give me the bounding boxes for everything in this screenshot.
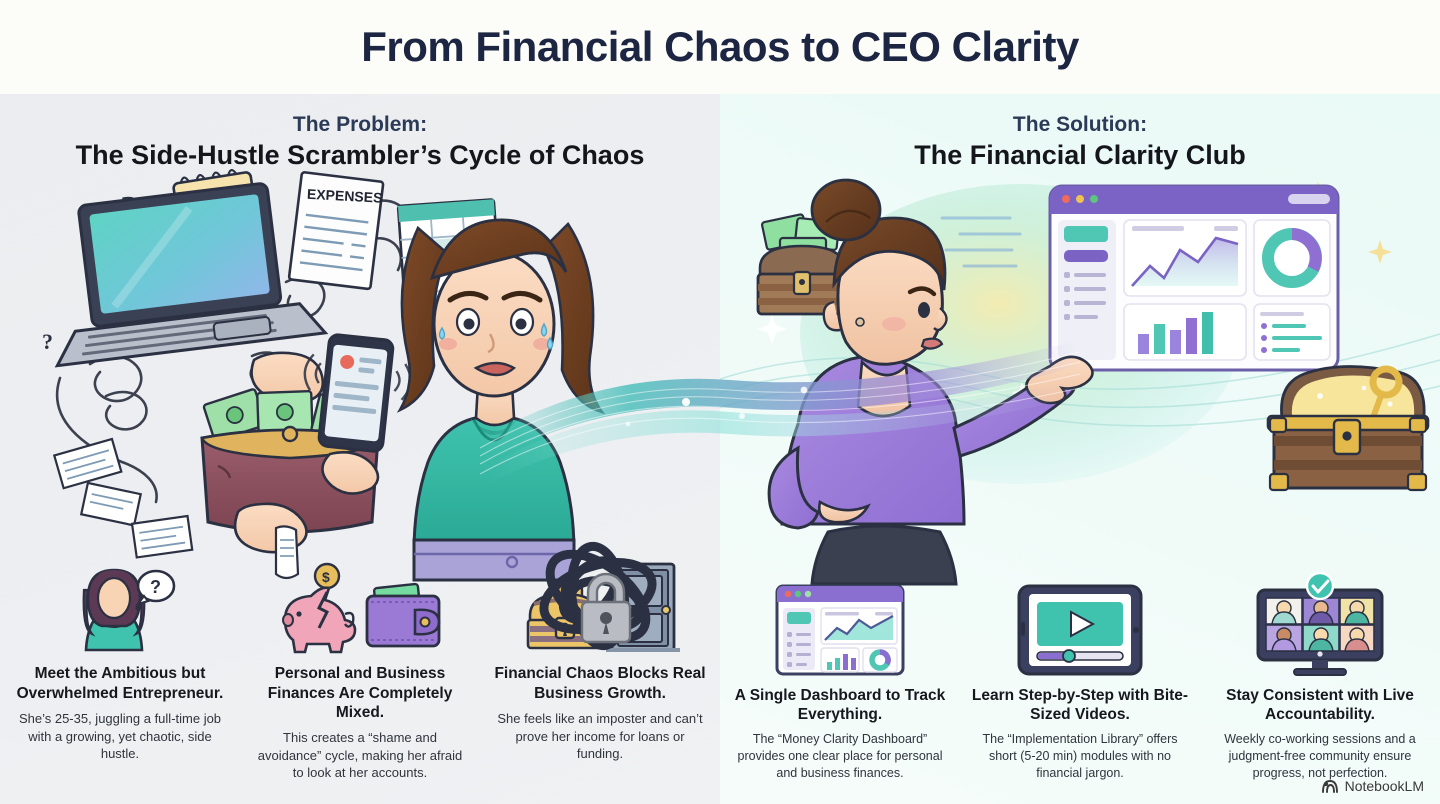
solution-panel-heading: The Solution: The Financial Clarity Club (720, 112, 1440, 173)
dashboard-screen (1050, 186, 1338, 370)
problem-card-2: $ (251, 554, 469, 782)
notebooklm-watermark: NotebookLM (1322, 778, 1424, 794)
problem-card-2-title: Personal and Business Finances Are Compl… (251, 664, 469, 722)
problem-panel: The Problem: The Side-Hustle Scrambler’s… (0, 94, 720, 804)
confident-ceo-illustration (720, 164, 1440, 554)
problem-eyebrow: The Problem: (0, 112, 720, 137)
svg-text:$: $ (322, 569, 330, 585)
solution-card-3-body: Weekly co-working sessions and a judgmen… (1211, 731, 1429, 782)
broken-piggy-bank-and-wallet-icon: $ (275, 554, 445, 654)
solution-eyebrow: The Solution: (720, 112, 1440, 137)
dashboard-icon (775, 576, 905, 676)
solution-panel: The Solution: The Financial Clarity Club (720, 94, 1440, 804)
confused-person-icon: ? (64, 554, 176, 654)
video-call-grid-icon (1250, 576, 1390, 676)
svg-text:?: ? (150, 577, 161, 597)
hair-bun (812, 180, 880, 240)
check-badge-icon (1307, 573, 1333, 599)
solution-card-2-body: The “Implementation Library” offers shor… (971, 731, 1189, 782)
window-controls (1062, 195, 1098, 203)
problem-card-1-title: Meet the Ambitious but Overwhelmed Entre… (11, 664, 229, 703)
problem-card-3-body: She feels like an imposter and can’t pro… (491, 710, 709, 763)
solution-title: The Financial Clarity Club (720, 139, 1440, 173)
solution-card-1-title: A Single Dashboard to Track Everything. (731, 686, 949, 725)
problem-panel-heading: The Problem: The Side-Hustle Scrambler’s… (0, 112, 720, 173)
problem-card-1: ? Meet the Ambitious but Overwhelmed Ent… (11, 554, 229, 762)
overwhelmed-entrepreneur-illustration: ? ? ? (0, 164, 720, 554)
stressed-woman-figure (400, 220, 602, 580)
infographic-canvas: From Financial Chaos to CEO Clarity The … (0, 0, 1440, 804)
solution-card-2-title: Learn Step-by-Step with Bite-Sized Video… (971, 686, 1189, 725)
open-treasure-chest-with-key-icon (1268, 365, 1428, 490)
page-title: From Financial Chaos to CEO Clarity (361, 23, 1079, 71)
laptop-icon (38, 178, 325, 366)
solution-cards: A Single Dashboard to Track Everything. … (720, 576, 1440, 782)
solution-card-3-title: Stay Consistent with Live Accountability… (1211, 686, 1429, 725)
panels-container: The Problem: The Side-Hustle Scrambler’s… (0, 94, 1440, 804)
expenses-document: EXPENSES (289, 172, 385, 289)
notebooklm-label: NotebookLM (1345, 778, 1424, 794)
solution-card-1-body: The “Money Clarity Dashboard” provides o… (731, 731, 949, 782)
tangled-knot-with-lock-icon (520, 534, 710, 674)
problem-title: The Side-Hustle Scrambler’s Cycle of Cha… (0, 139, 720, 173)
solution-card-3: Stay Consistent with Live Accountability… (1211, 576, 1429, 782)
page-title-bar: From Financial Chaos to CEO Clarity (0, 0, 1440, 94)
problem-card-1-body: She’s 25-35, juggling a full-time job wi… (11, 710, 229, 763)
question-mark-icon: ? (42, 329, 53, 354)
notebooklm-logo-icon (1322, 779, 1339, 794)
problem-card-2-body: This creates a “shame and avoidance” cyc… (251, 729, 469, 782)
video-player-icon (1017, 576, 1143, 676)
solution-card-1: A Single Dashboard to Track Everything. … (731, 576, 949, 782)
solution-card-2: Learn Step-by-Step with Bite-Sized Video… (971, 576, 1189, 782)
